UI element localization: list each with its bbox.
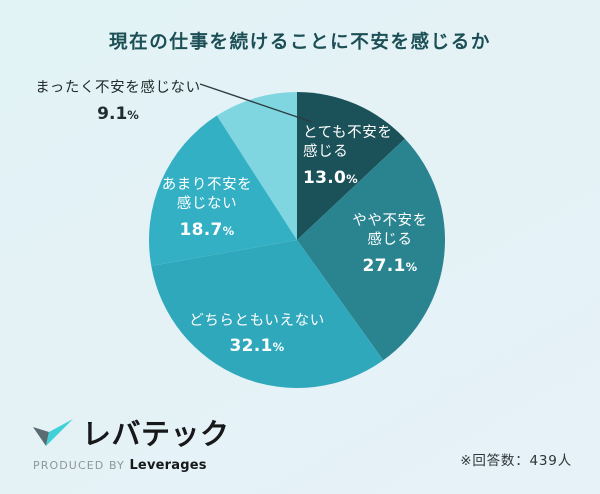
slice-percent: 9.1% <box>18 103 218 127</box>
logo-wordmark: レバテック <box>82 420 230 449</box>
slice-label-line2: 感じる <box>336 231 444 250</box>
slice-label-line2: 感じない <box>148 195 266 214</box>
slice-percent: 13.0% <box>303 167 423 190</box>
slice-percent: 18.7% <box>148 219 266 242</box>
logo-tagline: PRODUCED BY Leverages <box>33 458 263 473</box>
chart-canvas: 現在の仕事を続けることに不安を感じるか とても不安を 感じる 13.0% やや不… <box>0 0 600 494</box>
checkmark-logo-icon <box>33 419 75 449</box>
slice-label-line1: まったく不安を感じない <box>18 78 218 98</box>
slice-label-line1: やや不安を <box>336 212 444 231</box>
slice-label-not-anxious-at-all: まったく不安を感じない 9.1% <box>18 78 218 127</box>
slice-label-line2: 感じる <box>303 143 423 162</box>
slice-percent: 27.1% <box>336 255 444 278</box>
slice-label-somewhat-anxious: やや不安を 感じる 27.1% <box>336 212 444 278</box>
brand-logo: レバテック PRODUCED BY Leverages <box>33 417 263 473</box>
tagline-prefix: PRODUCED BY <box>33 459 125 472</box>
slice-label-line1: とても不安を <box>303 124 423 143</box>
respondents-note: ※回答数：439人 <box>460 449 572 469</box>
page-title: 現在の仕事を続けることに不安を感じるか <box>0 28 600 54</box>
slice-label-very-anxious: とても不安を 感じる 13.0% <box>303 124 423 190</box>
slice-label-line1: どちらともいえない <box>172 312 342 331</box>
leader-line <box>200 84 320 124</box>
slice-label-not-much-anxious: あまり不安を 感じない 18.7% <box>148 176 266 242</box>
slice-percent: 32.1% <box>172 335 342 358</box>
logo-row: レバテック <box>33 417 263 451</box>
tagline-brand: Leverages <box>129 458 206 473</box>
slice-label-neither: どちらともいえない 32.1% <box>172 312 342 358</box>
slice-label-line1: あまり不安を <box>148 176 266 195</box>
